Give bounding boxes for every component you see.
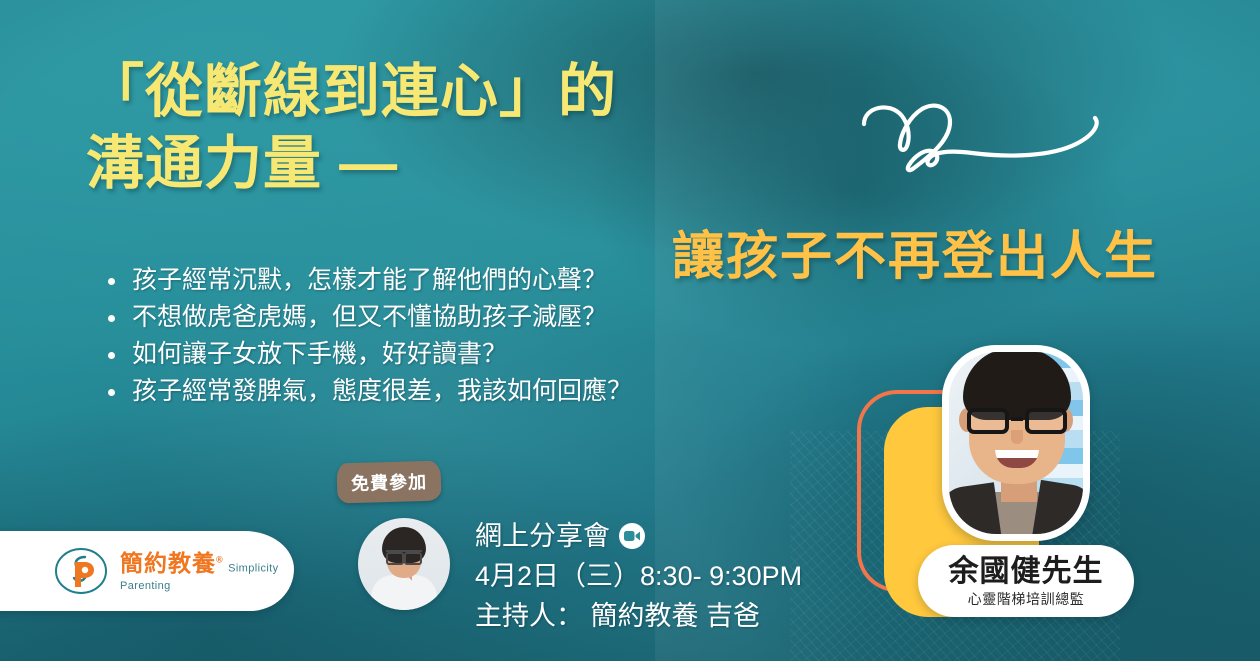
free-admission-label: 免費參加: [351, 468, 428, 496]
event-details: 網上分享會 4月2日（三）8:30- 9:30PM 主持人： 簡約教養 吉爸: [475, 516, 802, 636]
video-camera-icon: [619, 523, 645, 549]
brand-logo-bar: 簡約教養® Simplicity Parenting: [0, 531, 294, 611]
sp-monogram-icon: [54, 544, 108, 598]
speaker-role: 心靈階梯培訓總監: [968, 590, 1085, 608]
speaker-name-card: 余國健先生 心靈階梯培訓總監: [918, 545, 1134, 617]
event-format-label: 網上分享會: [475, 516, 610, 556]
brand-logo-text: 簡約教養® Simplicity Parenting: [120, 548, 294, 595]
free-admission-badge: 免費參加: [336, 461, 441, 504]
brand-name-cn: 簡約教養®: [120, 550, 224, 576]
question-list: 孩子經常沉默，怎樣才能了解他們的心聲？ 不想做虎爸虎媽，但又不懂協助孩子減壓？ …: [100, 262, 632, 410]
list-item: 不想做虎爸虎媽，但又不懂協助孩子減壓？: [100, 299, 632, 336]
heart-doodle-icon: [852, 98, 1118, 189]
speaker-name: 余國健先生: [949, 555, 1104, 589]
list-item: 孩子經常沉默，怎樣才能了解他們的心聲？: [100, 262, 632, 299]
speaker-portrait: [942, 345, 1090, 541]
event-format-row: 網上分享會: [475, 516, 802, 556]
title-line-2: 溝通力量 —: [86, 128, 617, 200]
list-item: 孩子經常發脾氣，態度很差，我該如何回應？: [100, 373, 632, 410]
event-datetime: 4月2日（三）8:30- 9:30PM: [475, 556, 802, 596]
page-title: 「從斷線到連心」的 溝通力量 —: [86, 56, 617, 200]
event-host: 主持人： 簡約教養 吉爸: [475, 596, 802, 636]
title-line-1: 「從斷線到連心」的: [86, 56, 617, 128]
event-poster: 「從斷線到連心」的 溝通力量 — 讓孩子不再登出人生 孩子經常沉默，怎樣才能了解…: [0, 0, 1260, 661]
host-avatar: [358, 518, 450, 610]
subheadline: 讓孩子不再登出人生: [672, 214, 1158, 289]
list-item: 如何讓子女放下手機，好好讀書？: [100, 336, 632, 373]
